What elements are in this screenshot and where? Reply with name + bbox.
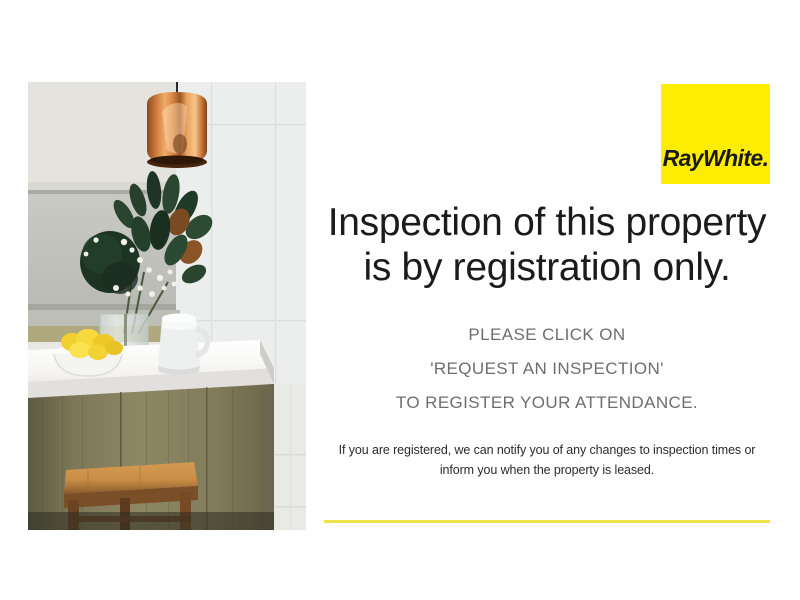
headline-line-2: is by registration only. (324, 245, 770, 290)
headline-line-1: Inspection of this property (324, 200, 770, 245)
yellow-divider (324, 520, 770, 523)
kitchen-photo-illustration (28, 82, 306, 530)
raywhite-logo: RayWhite. (661, 84, 770, 184)
instruction-line-3: TO REGISTER YOUR ATTENDANCE. (324, 386, 770, 420)
fineprint-line-2: inform you when the property is leased. (324, 460, 770, 480)
instruction-block: PLEASE CLICK ON 'REQUEST AN INSPECTION' … (324, 318, 770, 420)
property-photo (28, 82, 306, 530)
poster-canvas: RayWhite. Inspection of this property is… (0, 0, 800, 600)
message-column: Inspection of this property is by regist… (324, 200, 770, 480)
page-title: Inspection of this property is by regist… (324, 200, 770, 290)
instruction-line-1: PLEASE CLICK ON (324, 318, 770, 352)
raywhite-logo-text: RayWhite. (661, 145, 770, 172)
fineprint-line-1: If you are registered, we can notify you… (324, 440, 770, 460)
fineprint-block: If you are registered, we can notify you… (324, 440, 770, 480)
instruction-line-2: 'REQUEST AN INSPECTION' (324, 352, 770, 386)
